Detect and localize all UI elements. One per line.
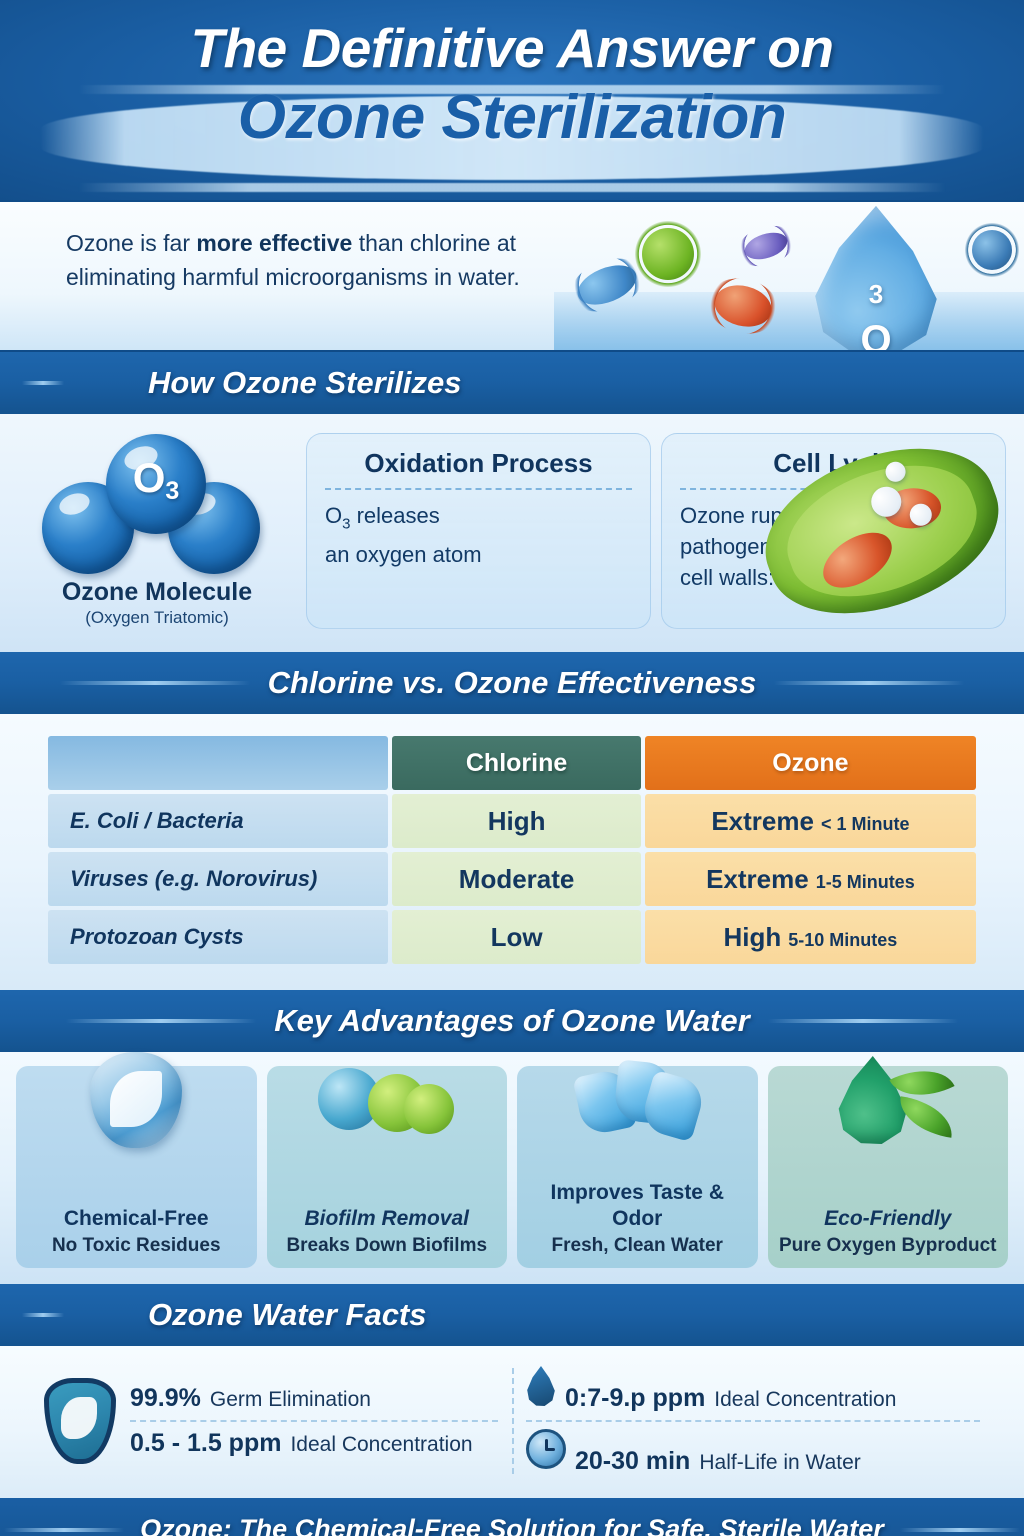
fact-value: 0:7-9.p ppm — [565, 1384, 705, 1413]
ice-cubes-icon — [572, 1056, 702, 1144]
oxidation-line2: an oxygen atom — [325, 542, 482, 567]
how-ozone-sterilizes-content: O3 Ozone Molecule (Oxygen Triatomic) Oxi… — [0, 414, 1024, 652]
advantage-subtitle: Fresh, Clean Water — [523, 1234, 752, 1258]
table-row: E. Coli / Bacteria High Extreme< 1 Minut… — [48, 794, 976, 848]
table-header-row: Chlorine Ozone — [48, 736, 976, 790]
shield-germ-icon — [44, 1378, 116, 1464]
fact-item: 20-30 min Half-Life in Water — [526, 1422, 980, 1483]
section-title-how: How Ozone Sterilizes — [130, 365, 480, 401]
green-droplet-icon — [836, 1056, 910, 1144]
molecule-name: Ozone Molecule — [18, 578, 296, 607]
header-banner: The Definitive Answer on Ozone Steriliza… — [0, 0, 1024, 200]
ozone-level: Extreme — [711, 806, 814, 836]
advantage-icon-wrap — [768, 1044, 1009, 1172]
advantage-title: Eco-Friendly — [774, 1206, 1003, 1232]
blue-virus-icon — [972, 230, 1012, 270]
molecule-subtitle: (Oxygen Triatomic) — [18, 608, 296, 628]
table-header-blank — [48, 736, 388, 790]
rule-decoration — [4, 1528, 124, 1532]
cell-lysis-line2: pathogen — [680, 534, 772, 559]
section-header-comparison: Chlorine vs. Ozone Effectiveness — [0, 652, 1024, 714]
fact-label: Half-Life in Water — [699, 1451, 860, 1475]
cell-nucleus-blob — [814, 521, 902, 599]
facts-column-right: 0:7-9.p ppm Ideal Concentration 20-30 mi… — [512, 1362, 994, 1480]
page-title-line1: The Definitive Answer on — [0, 0, 1024, 80]
table-header-chlorine: Chlorine — [392, 736, 640, 790]
oxidation-line1-o: O — [325, 503, 342, 528]
advantage-icon-wrap — [517, 1044, 758, 1172]
table-cell-pathogen: E. Coli / Bacteria — [48, 794, 388, 848]
card-cell-lysis: Cell Lysis Ozone ruptures pathogen cell … — [661, 433, 1006, 629]
footer-banner: Ozone: The Chemical-Free Solution for Sa… — [0, 1498, 1024, 1536]
section-header-advantages: Key Advantages of Ozone Water — [0, 990, 1024, 1052]
footer-tagline: Ozone: The Chemical-Free Solution for Sa… — [140, 1514, 884, 1536]
table-row: Viruses (e.g. Norovirus) Moderate Extrem… — [48, 852, 976, 906]
table-cell-chlorine: High — [392, 794, 640, 848]
intro-text-part1: Ozone is far — [66, 230, 196, 256]
cell-lysis-line3: cell walls: — [680, 565, 774, 590]
table-row: Protozoan Cysts Low High5-10 Minutes — [48, 910, 976, 964]
intro-section: Ozone is far more effective than chlorin… — [0, 200, 1024, 352]
fact-label: Ideal Concentration — [290, 1433, 472, 1457]
rule-decoration — [60, 681, 250, 685]
rule-decoration — [900, 1528, 1020, 1532]
ozone-level: Extreme — [706, 864, 809, 894]
advantage-subtitle: No Toxic Residues — [22, 1234, 251, 1258]
shield-germ-icon-wrap — [44, 1378, 116, 1464]
fact-item: 0.5 - 1.5 ppm Ideal Concentration — [130, 1422, 498, 1465]
facts-lines-left: 99.9% Germ Elimination 0.5 - 1.5 ppm Ide… — [130, 1377, 498, 1465]
rule-decoration — [22, 381, 64, 385]
advantages-cards: Chemical-Free No Toxic Residues Biofilm … — [0, 1052, 1024, 1284]
oxygen-atom-top: O3 — [106, 434, 206, 534]
ozone-molecule-icon: O3 — [42, 434, 272, 574]
green-germ-icon — [404, 1084, 454, 1134]
advantage-title: Improves Taste & Odor — [523, 1180, 752, 1232]
red-bacterium-icon — [710, 280, 776, 333]
eco-leaf-droplet-icon — [818, 1052, 958, 1148]
advantage-card-biofilm-removal: Biofilm Removal Breaks Down Biofilms — [267, 1066, 508, 1268]
molecule-3-symbol: 3 — [165, 477, 179, 505]
advantage-card-chemical-free: Chemical-Free No Toxic Residues — [16, 1066, 257, 1268]
card-oxidation-process: Oxidation Process O3 releases an oxygen … — [306, 433, 651, 629]
leaf-shield-icon — [90, 1052, 182, 1148]
effectiveness-table: Chlorine Ozone E. Coli / Bacteria High E… — [44, 732, 980, 968]
ozone-time: < 1 Minute — [821, 814, 910, 834]
rule-decoration — [768, 1019, 958, 1023]
rule-decoration — [774, 681, 964, 685]
ozone-time: 5-10 Minutes — [788, 930, 897, 950]
advantage-icon-wrap — [267, 1044, 508, 1172]
section-header-facts: Ozone Water Facts — [0, 1284, 1024, 1346]
fact-item: 0:7-9.p ppm Ideal Concentration — [526, 1359, 980, 1420]
section-title-advantages: Key Advantages of Ozone Water — [256, 1003, 767, 1039]
biofilm-germs-icon — [312, 1054, 462, 1146]
dashed-divider — [325, 488, 632, 490]
table-cell-ozone: Extreme< 1 Minute — [645, 794, 976, 848]
fact-item: 99.9% Germ Elimination — [130, 1377, 498, 1420]
droplet-3-label: 3 — [869, 279, 883, 309]
section-title-facts: Ozone Water Facts — [130, 1297, 445, 1333]
table-cell-pathogen: Protozoan Cysts — [48, 910, 388, 964]
rule-decoration — [66, 1019, 256, 1023]
fact-value: 20-30 min — [575, 1447, 690, 1476]
advantage-icon-wrap — [16, 1044, 257, 1172]
molecule-o-symbol: O — [133, 454, 166, 501]
fact-label: Ideal Concentration — [714, 1388, 896, 1412]
ozone-time: 1-5 Minutes — [816, 872, 915, 892]
intro-text: Ozone is far more effective than chlorin… — [66, 226, 566, 294]
ozone-molecule-block: O3 Ozone Molecule (Oxygen Triatomic) — [18, 434, 296, 628]
ozone-level: High — [723, 922, 781, 952]
rule-decoration — [22, 1313, 64, 1317]
fact-value: 99.9% — [130, 1384, 201, 1413]
intro-illustration: O3 — [554, 202, 1024, 352]
comparison-table-wrapper: Chlorine Ozone E. Coli / Bacteria High E… — [0, 714, 1024, 990]
oxidation-title: Oxidation Process — [325, 448, 632, 479]
advantage-title: Biofilm Removal — [273, 1206, 502, 1232]
table-cell-ozone: High5-10 Minutes — [645, 910, 976, 964]
page-title-line2: Ozone Sterilization — [0, 82, 1024, 153]
table-cell-ozone: Extreme1-5 Minutes — [645, 852, 976, 906]
section-header-how-ozone-sterilizes: How Ozone Sterilizes — [0, 352, 1024, 414]
green-virus-icon — [642, 228, 694, 280]
facts-column-left: 99.9% Germ Elimination 0.5 - 1.5 ppm Ide… — [30, 1362, 512, 1480]
fact-value: 0.5 - 1.5 ppm — [130, 1429, 281, 1458]
table-header-ozone: Ozone — [645, 736, 976, 790]
table-cell-pathogen: Viruses (e.g. Norovirus) — [48, 852, 388, 906]
table-cell-chlorine: Low — [392, 910, 640, 964]
advantage-title: Chemical-Free — [22, 1206, 251, 1232]
advantage-subtitle: Breaks Down Biofilms — [273, 1234, 502, 1258]
infographic-page: The Definitive Answer on Ozone Steriliza… — [0, 0, 1024, 1536]
facts-lines-right: 0:7-9.p ppm Ideal Concentration 20-30 mi… — [526, 1359, 980, 1483]
droplet-icon — [526, 1366, 556, 1406]
purple-bacterium-icon — [741, 228, 790, 264]
advantage-card-eco-friendly: Eco-Friendly Pure Oxygen Byproduct — [768, 1066, 1009, 1268]
table-cell-chlorine: Moderate — [392, 852, 640, 906]
oxidation-body: O3 releases an oxygen atom — [325, 500, 632, 570]
advantage-card-improves-taste: Improves Taste & Odor Fresh, Clean Water — [517, 1066, 758, 1268]
intro-text-emphasis: more effective — [196, 230, 352, 256]
ozone-molecule-attack-icon — [883, 459, 909, 485]
clock-icon — [526, 1429, 566, 1469]
fact-label: Germ Elimination — [210, 1388, 371, 1412]
ozone-water-facts: 99.9% Germ Elimination 0.5 - 1.5 ppm Ide… — [0, 1346, 1024, 1498]
advantage-subtitle: Pure Oxygen Byproduct — [774, 1234, 1003, 1258]
oxidation-line1-rest: releases — [350, 503, 439, 528]
section-title-comparison: Chlorine vs. Ozone Effectiveness — [250, 665, 775, 701]
water-droplet-o3-icon: O3 — [810, 206, 942, 352]
